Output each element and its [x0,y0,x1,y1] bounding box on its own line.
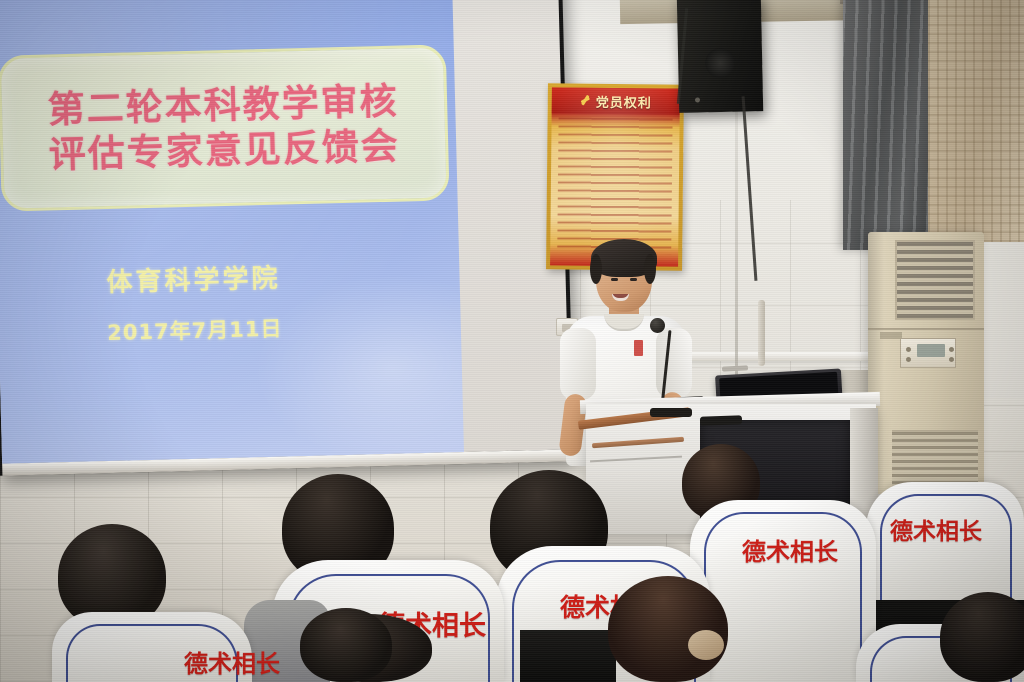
ac-panel-seam [868,328,984,330]
ac-top-vent-grille [895,240,975,320]
blackout-curtain[interactable] [843,0,931,250]
projected-slide: 第二轮本科教学审核 评估专家意见反馈会 体育科学学院 2017年7月11日 [0,0,464,464]
wall-speaker-icon [677,0,763,113]
audience-head-woman [608,576,728,682]
chair-cover-piping [880,494,1012,600]
sheer-curtain[interactable] [928,0,1024,242]
chair-motto: 德术相长 [184,644,280,679]
presenter-sleeve-left [560,328,596,400]
slide-hotspot [252,270,464,464]
hair-clip-icon [688,630,724,660]
ac-button-down[interactable] [949,357,954,362]
ac-button-mode[interactable] [906,357,911,362]
slide-title-box: 第二轮本科教学审核 评估专家意见反馈会 [0,44,450,211]
audience-head [940,592,1024,682]
floor-air-conditioner[interactable] [868,232,984,494]
presenter-hair-side-right [644,254,656,284]
microphone-base [650,408,692,417]
microphone-icon[interactable] [650,318,665,333]
chair-motto: 德术相长 [890,512,982,546]
ac-brand-logo [880,332,902,339]
presenter-badge [634,340,643,356]
wall-pipe [758,300,765,366]
meeting-room-photo: 第二轮本科教学审核 评估专家意见反馈会 体育科学学院 2017年7月11日 党员… [0,0,1024,682]
presenter-eye-right [630,278,637,281]
podium-remote[interactable] [700,415,742,425]
presenter-eye-left [611,278,618,281]
slide-title-line-2: 评估专家意见反馈会 [48,126,400,176]
presenter-hair-side-left [590,254,602,284]
audience-head [300,608,392,682]
ac-display [917,344,945,357]
projection-screen: 第二轮本科教学审核 评估专家意见反馈会 体育科学学院 2017年7月11日 [0,0,574,476]
slide-title-line-1: 第二轮本科教学审核 [47,80,399,130]
ac-button-power[interactable] [906,347,911,352]
chair-motto: 德术相长 [742,532,838,567]
speaker-cone [705,48,736,79]
ac-button-up[interactable] [949,347,954,352]
ac-control-panel[interactable] [900,338,956,368]
chair-back-dark-2 [520,630,616,682]
speaker-led [695,97,700,102]
